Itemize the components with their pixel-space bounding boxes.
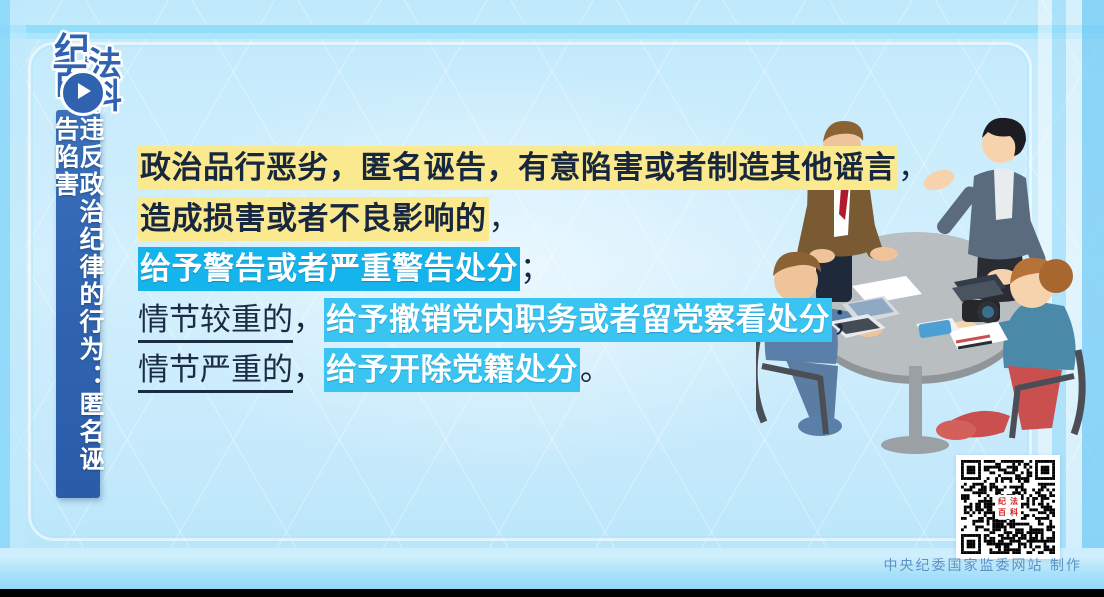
qr-code-pattern: 纪 法 百 科 [961,460,1055,554]
text-segment: 给予开除党籍处分 [324,348,580,392]
left-edge-stripes [0,0,26,589]
text-segment: ； [832,302,863,338]
qr-logo-char-ke: 科 [1008,507,1020,518]
vertical-title-ribbon: 违反政治纪律的行为：匿名诬告陷害 [56,110,100,498]
text-line-1: 政治品行恶劣，匿名诬告，有意陷害或者制造其他谣言， [138,150,828,187]
text-segment: ， [898,150,929,186]
qr-center-logo: 纪 法 百 科 [995,495,1021,519]
text-segment: 造成损害或者不良影响的 [138,197,489,241]
poster-canvas: 纪 法 百 科 违反政治纪律的行为：匿名诬告陷害 政治品行恶劣，匿名诬告，有意陷… [0,0,1104,589]
qr-logo-char-ji: 纪 [996,496,1008,507]
regulation-text-block: 政治品行恶劣，匿名诬告，有意陷害或者制造其他谣言， 造成损害或者不良影响的， 给… [138,150,828,403]
qr-code[interactable]: 纪 法 百 科 [956,455,1060,559]
text-segment: ， [489,201,520,237]
text-segment: ； [520,251,551,287]
text-segment: 。 [580,352,611,388]
text-line-3: 给予警告或者严重警告处分； [138,251,828,288]
text-line-4: 情节较重的，给予撤销党内职务或者留党察看处分； [138,302,828,339]
top-accent-band [0,25,1104,33]
qr-logo-char-bai: 百 [996,507,1008,518]
text-segment: 情节较重的 [138,302,293,343]
text-line-2: 造成损害或者不良影响的， [138,201,828,238]
text-segment: ， [293,352,324,388]
qr-logo-char-fa: 法 [1008,496,1020,507]
text-segment: ， [293,302,324,338]
text-segment: 政治品行恶劣，匿名诬告，有意陷害或者制造其他谣言 [138,146,898,190]
bottom-black-bar [0,589,1104,597]
brand-logo: 纪 法 百 科 [52,34,148,126]
ribbon-title-text: 违反政治纪律的行为：匿名诬告陷害 [53,116,103,498]
play-icon [60,70,106,116]
text-segment: 给予撤销党内职务或者留党察看处分 [324,298,832,342]
text-segment: 给予警告或者严重警告处分 [138,247,520,291]
footer-credit: 中央纪委国家监委网站 制作 [884,555,1082,575]
text-segment: 情节严重的 [138,352,293,393]
bottom-accent-line [0,548,1104,555]
top-accent-band-secondary [0,33,1104,39]
text-line-5: 情节严重的，给予开除党籍处分。 [138,352,828,389]
